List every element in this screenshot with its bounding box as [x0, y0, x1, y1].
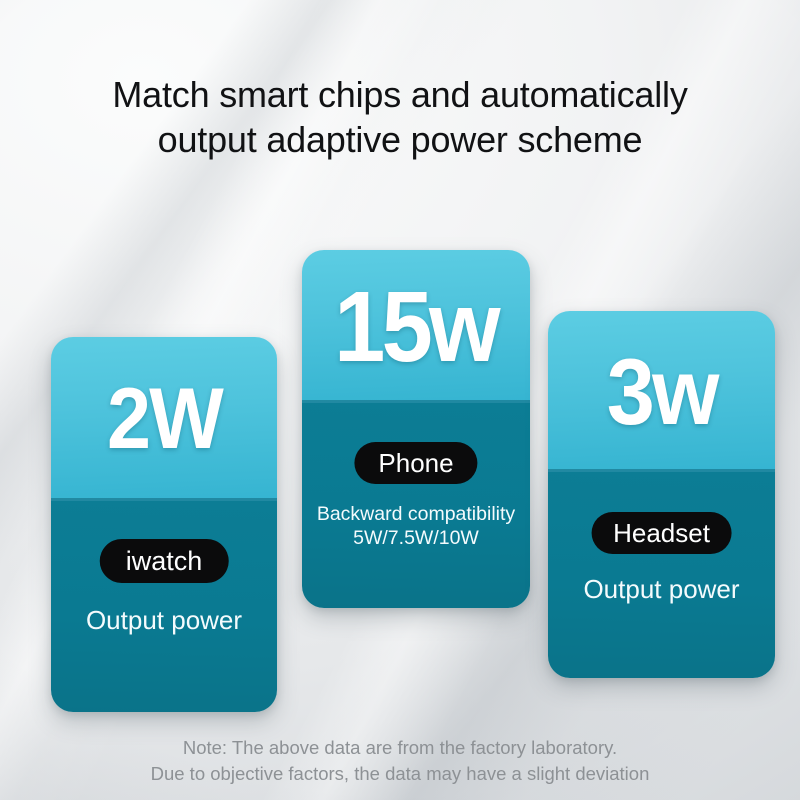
power-card-phone-watt: 15w: [335, 277, 498, 377]
power-card-iwatch-top: 2W: [51, 337, 277, 501]
power-card-iwatch-caption: Output power: [51, 605, 277, 636]
power-card-phone: 15w Phone Backward compatibility 5W/7.5W…: [302, 250, 530, 608]
power-card-headset-device-badge: Headset: [591, 512, 732, 554]
power-card-iwatch: 2W iwatch Output power: [51, 337, 277, 712]
power-card-headset-bottom: Headset Output power: [548, 472, 775, 678]
power-card-iwatch-device-badge: iwatch: [100, 539, 229, 583]
power-card-iwatch-watt: 2W: [107, 376, 222, 462]
power-card-iwatch-bottom: iwatch Output power: [51, 501, 277, 712]
power-card-headset-top: 3w: [548, 311, 775, 472]
page-title: Match smart chips and automatically outp…: [0, 72, 800, 162]
infographic-canvas: Match smart chips and automatically outp…: [0, 0, 800, 800]
power-card-phone-caption: Backward compatibility 5W/7.5W/10W: [302, 502, 530, 550]
power-card-phone-device-badge: Phone: [354, 442, 477, 484]
power-card-phone-top: 15w: [302, 250, 530, 403]
footnote-disclaimer: Note: The above data are from the factor…: [0, 735, 800, 787]
power-card-headset-caption: Output power: [548, 574, 775, 605]
power-card-headset: 3w Headset Output power: [548, 311, 775, 678]
power-card-headset-watt: 3w: [607, 345, 717, 439]
power-card-phone-bottom: Phone Backward compatibility 5W/7.5W/10W: [302, 403, 530, 608]
